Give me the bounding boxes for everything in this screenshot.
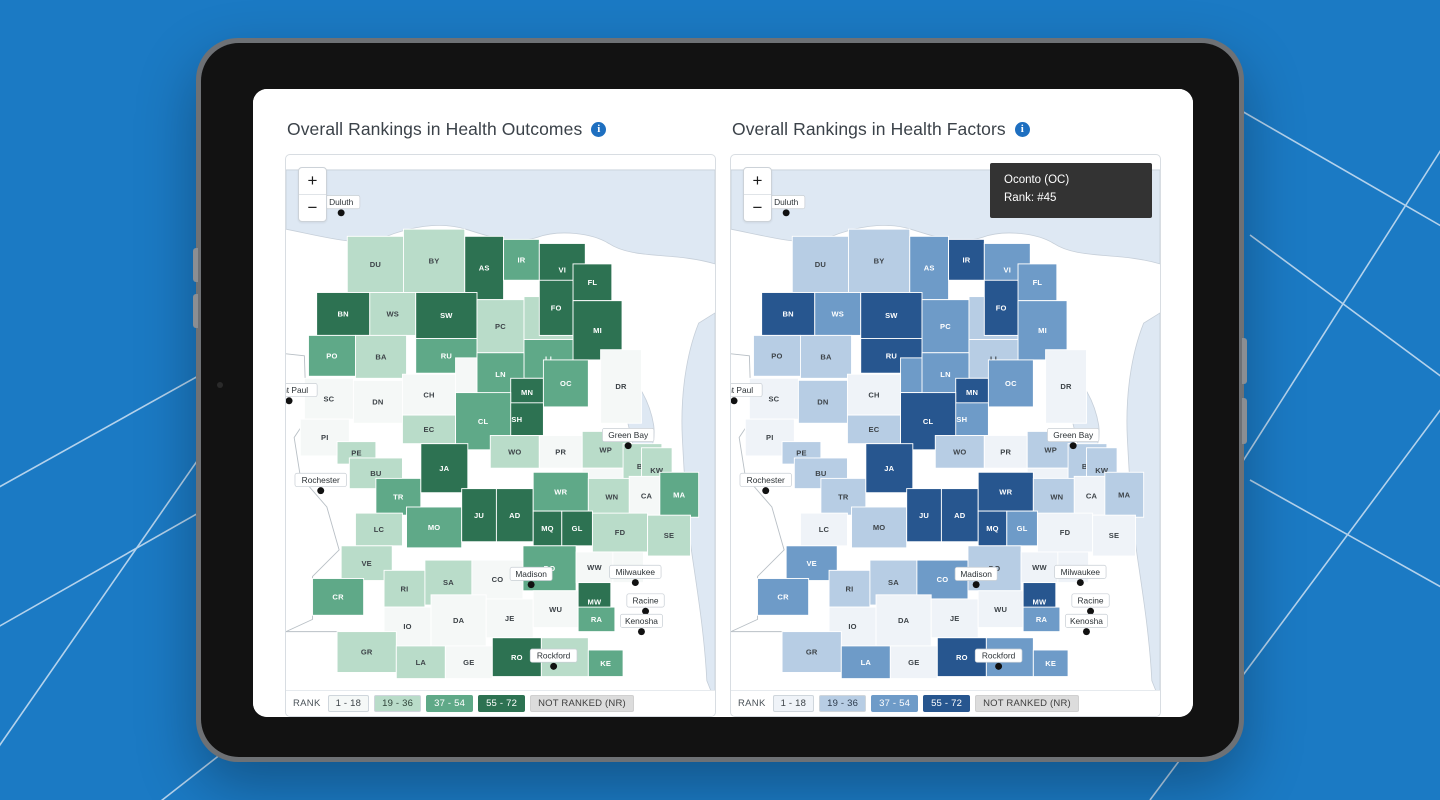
county-label-WP: WP	[1044, 445, 1057, 454]
legend-bin-3[interactable]: 37 - 54	[426, 695, 473, 712]
city-dot-icon	[338, 209, 345, 216]
county-label-BA: BA	[375, 353, 387, 362]
county-label-KE: KE	[1045, 659, 1056, 668]
county-label-DN: DN	[372, 397, 383, 406]
city-label-milwaukee: Milwaukee	[616, 567, 656, 577]
county-label-SA: SA	[888, 578, 899, 587]
county-label-JU: JU	[474, 511, 484, 520]
county-label-CR: CR	[332, 593, 344, 602]
zoom-controls-factors[interactable]: + −	[743, 167, 772, 222]
county-label-SW: SW	[440, 311, 453, 320]
county-label-WN: WN	[605, 492, 618, 501]
county-label-CA: CA	[1086, 491, 1098, 500]
map-tooltip: Oconto (OC) Rank: #45	[990, 163, 1152, 218]
legend-bin-4[interactable]: 55 - 72	[478, 695, 525, 712]
county-label-IR: IR	[962, 255, 970, 264]
zoom-controls-outcomes[interactable]: + −	[298, 167, 327, 222]
county-label-LA: LA	[416, 658, 427, 667]
legend-not-ranked[interactable]: NOT RANKED (NR)	[975, 695, 1079, 712]
county-label-RI: RI	[846, 584, 854, 593]
city-label-duluth: Duluth	[329, 197, 354, 207]
legend-bin-1[interactable]: 1 - 18	[773, 695, 815, 712]
county-label-GL: GL	[572, 524, 583, 533]
county-label-DR: DR	[1060, 382, 1072, 391]
county-label-AD: AD	[509, 511, 521, 520]
county-label-DA: DA	[898, 616, 910, 625]
city-label-saint-paul: Saint Paul	[286, 385, 308, 395]
city-label-milwaukee: Milwaukee	[1061, 567, 1101, 577]
county-label-WP: WP	[599, 445, 612, 454]
county-label-VI: VI	[559, 266, 567, 275]
device-bezel: Overall Rankings in Health Outcomes i + …	[201, 43, 1239, 757]
county-label-VE: VE	[806, 559, 816, 568]
county-label-AD: AD	[954, 511, 966, 520]
county-label-PO: PO	[771, 351, 782, 360]
county-label-WU: WU	[994, 605, 1007, 614]
county-label-SH: SH	[956, 415, 967, 424]
county-label-MO: MO	[873, 523, 886, 532]
city-label-rockford: Rockford	[982, 651, 1016, 661]
county-label-MA: MA	[1118, 490, 1130, 499]
legend-bin-1[interactable]: 1 - 18	[328, 695, 370, 712]
panel-title-factors: Overall Rankings in Health Factors i	[732, 119, 1161, 140]
city-dot-icon	[638, 628, 645, 635]
county-label-PC: PC	[495, 322, 506, 331]
city-dot-icon	[632, 579, 639, 586]
city-dot-icon	[1087, 608, 1094, 615]
city-dot-icon	[528, 581, 535, 588]
legend-bin-2[interactable]: 19 - 36	[374, 695, 421, 712]
wisconsin-choropleth-factors[interactable]: DUBYASIRVIBNWSSWPCONFLFOMIPOBARUTALILNMN…	[731, 155, 1160, 716]
county-label-RU: RU	[886, 351, 897, 360]
county-label-JA: JA	[884, 464, 894, 473]
county-label-KE: KE	[600, 659, 611, 668]
county-label-SW: SW	[885, 311, 898, 320]
county-label-PC: PC	[940, 322, 951, 331]
county-label-GR: GR	[806, 648, 818, 657]
county-label-IR: IR	[517, 255, 525, 264]
zoom-in-button[interactable]: +	[299, 168, 326, 194]
county-label-CR: CR	[777, 593, 789, 602]
county-label-TR: TR	[393, 492, 404, 501]
county-label-GE: GE	[463, 658, 474, 667]
city-label-rockford: Rockford	[537, 651, 571, 661]
county-label-WU: WU	[549, 605, 562, 614]
city-label-green-bay: Green Bay	[1053, 430, 1094, 440]
county-label-DR: DR	[615, 382, 627, 391]
county-label-BU: BU	[815, 469, 826, 478]
county-label-VI: VI	[1004, 266, 1012, 275]
county-label-WO: WO	[953, 447, 966, 456]
county-label-RA: RA	[591, 615, 603, 624]
county-label-MW: MW	[1033, 598, 1047, 607]
legend-not-ranked[interactable]: NOT RANKED (NR)	[530, 695, 634, 712]
city-label-duluth: Duluth	[774, 197, 799, 207]
county-label-EC: EC	[424, 425, 435, 434]
county-label-PO: PO	[326, 351, 337, 360]
county-label-RA: RA	[1036, 615, 1048, 624]
county-label-WW: WW	[1032, 563, 1047, 572]
county-label-LN: LN	[495, 370, 505, 379]
county-label-PR: PR	[1000, 447, 1011, 456]
county-label-RO: RO	[511, 653, 523, 662]
county-label-MQ: MQ	[986, 524, 999, 533]
county-label-MN: MN	[966, 388, 978, 397]
county-label-LC: LC	[374, 525, 385, 534]
map-card-factors[interactable]: + − Oconto (OC) Rank: #45 DUBYASIRVIBNWS…	[730, 154, 1161, 717]
county-label-JE: JE	[505, 614, 515, 623]
county-label-CL: CL	[923, 417, 934, 426]
county-label-MI: MI	[1038, 326, 1047, 335]
county-label-MQ: MQ	[541, 524, 554, 533]
county-label-RO: RO	[956, 653, 968, 662]
county-label-TR: TR	[838, 492, 849, 501]
power-button[interactable]	[1242, 338, 1247, 384]
county-label-JA: JA	[439, 464, 449, 473]
county-label-DA: DA	[453, 616, 465, 625]
county-label-IO: IO	[848, 622, 856, 631]
county-label-AS: AS	[479, 264, 490, 273]
city-label-kenosha: Kenosha	[625, 616, 658, 626]
county-label-FL: FL	[1033, 278, 1043, 287]
county-label-MA: MA	[673, 490, 685, 499]
legend-bin-4[interactable]: 55 - 72	[923, 695, 970, 712]
county-label-FD: FD	[1060, 528, 1071, 537]
city-label-rochester: Rochester	[747, 475, 785, 485]
city-label-saint-paul: Saint Paul	[731, 385, 753, 395]
legend-outcomes: RANK 1 - 18 19 - 36 37 - 54 55 - 72 NOT …	[286, 690, 715, 716]
county-label-GR: GR	[361, 648, 373, 657]
volume-down-button[interactable]	[193, 294, 198, 328]
city-dot-icon	[783, 209, 790, 216]
county-label-LC: LC	[819, 525, 830, 534]
county-label-CH: CH	[868, 390, 879, 399]
county-label-OC: OC	[1005, 379, 1017, 388]
county-label-FO: FO	[996, 303, 1007, 312]
county-label-PR: PR	[555, 447, 566, 456]
info-icon[interactable]: i	[1015, 122, 1030, 137]
county-label-WR: WR	[999, 487, 1012, 496]
panel-health-factors: Overall Rankings in Health Factors i + −…	[730, 119, 1161, 717]
city-dot-icon	[317, 487, 324, 494]
city-label-racine: Racine	[633, 596, 659, 606]
city-dot-icon	[1070, 442, 1077, 449]
city-dot-icon	[995, 663, 1002, 670]
city-dot-icon	[1077, 579, 1084, 586]
county-label-IO: IO	[403, 622, 411, 631]
legend-bin-3[interactable]: 37 - 54	[871, 695, 918, 712]
county-label-SC: SC	[768, 394, 779, 403]
county-label-BN: BN	[338, 310, 349, 319]
county-label-WS: WS	[386, 310, 399, 319]
legend-title: RANK	[738, 698, 766, 709]
county-label-JE: JE	[950, 614, 960, 623]
county-label-WR: WR	[554, 487, 567, 496]
county-label-EC: EC	[869, 425, 880, 434]
county-label-RU: RU	[441, 351, 452, 360]
info-icon[interactable]: i	[591, 122, 606, 137]
county-label-FL: FL	[588, 278, 598, 287]
city-dot-icon	[762, 487, 769, 494]
county-label-MO: MO	[428, 523, 441, 532]
wisconsin-choropleth-outcomes[interactable]: DUBYASIRVIBNWSSWPCONFLFOMIPOBARUTALILNMN…	[286, 155, 715, 716]
county-label-AS: AS	[924, 264, 935, 273]
city-dot-icon	[550, 663, 557, 670]
county-label-PE: PE	[796, 449, 806, 458]
county-label-WO: WO	[508, 447, 521, 456]
city-dot-icon	[625, 442, 632, 449]
city-dot-icon	[973, 581, 980, 588]
legend-factors: RANK 1 - 18 19 - 36 37 - 54 55 - 72 NOT …	[731, 690, 1160, 716]
city-label-green-bay: Green Bay	[608, 430, 649, 440]
county-label-MN: MN	[521, 388, 533, 397]
county-label-CA: CA	[641, 491, 653, 500]
county-label-DU: DU	[370, 260, 381, 269]
zoom-in-button[interactable]: +	[744, 168, 771, 194]
county-label-SH: SH	[511, 415, 522, 424]
panel-title-text: Overall Rankings in Health Factors	[732, 119, 1006, 140]
county-label-RI: RI	[401, 584, 409, 593]
device-screen: Overall Rankings in Health Outcomes i + …	[253, 89, 1193, 717]
side-button[interactable]	[1242, 398, 1247, 444]
city-dot-icon	[642, 608, 649, 615]
panel-title-text: Overall Rankings in Health Outcomes	[287, 119, 582, 140]
county-label-DU: DU	[815, 260, 826, 269]
city-label-rochester: Rochester	[302, 475, 340, 485]
county-label-PI: PI	[321, 433, 329, 442]
city-label-racine: Racine	[1078, 596, 1104, 606]
county-label-CO: CO	[937, 575, 949, 584]
panel-health-outcomes: Overall Rankings in Health Outcomes i + …	[285, 119, 716, 717]
zoom-out-button[interactable]: −	[744, 195, 771, 221]
panel-title-outcomes: Overall Rankings in Health Outcomes i	[287, 119, 716, 140]
city-label-madison: Madison	[515, 569, 547, 579]
county-label-SE: SE	[1109, 531, 1119, 540]
tooltip-county: Oconto (OC)	[1004, 172, 1138, 190]
county-label-BY: BY	[874, 256, 885, 265]
county-label-BU: BU	[370, 469, 381, 478]
county-label-VE: VE	[361, 559, 371, 568]
tablet-device: Overall Rankings in Health Outcomes i + …	[196, 38, 1244, 762]
dashboard: Overall Rankings in Health Outcomes i + …	[253, 89, 1193, 717]
county-label-WW: WW	[587, 563, 602, 572]
county-label-SE: SE	[664, 531, 674, 540]
front-camera-icon	[217, 382, 223, 388]
county-label-WS: WS	[831, 310, 844, 319]
county-label-FO: FO	[551, 303, 562, 312]
volume-up-button[interactable]	[193, 248, 198, 282]
legend-bin-2[interactable]: 19 - 36	[819, 695, 866, 712]
county-label-SC: SC	[323, 394, 334, 403]
county-label-LA: LA	[861, 658, 872, 667]
county-label-GL: GL	[1017, 524, 1028, 533]
city-label-madison: Madison	[960, 569, 992, 579]
county-label-CH: CH	[423, 390, 434, 399]
map-card-outcomes[interactable]: + − DUBYASIRVIBNWSSWPCONFLFOMIPOBARUTALI…	[285, 154, 716, 717]
county-label-BN: BN	[783, 310, 794, 319]
county-label-BA: BA	[820, 353, 832, 362]
county-label-DN: DN	[817, 397, 828, 406]
county-label-PE: PE	[351, 449, 361, 458]
county-label-CO: CO	[492, 575, 504, 584]
county-label-BY: BY	[429, 256, 440, 265]
county-label-WN: WN	[1050, 492, 1063, 501]
city-dot-icon	[1083, 628, 1090, 635]
county-label-FD: FD	[615, 528, 626, 537]
county-label-CL: CL	[478, 417, 489, 426]
county-label-LN: LN	[940, 370, 950, 379]
county-label-JU: JU	[919, 511, 929, 520]
county-label-OC: OC	[560, 379, 572, 388]
county-label-MW: MW	[588, 598, 602, 607]
county-label-MI: MI	[593, 326, 602, 335]
city-label-kenosha: Kenosha	[1070, 616, 1103, 626]
zoom-out-button[interactable]: −	[299, 195, 326, 221]
tooltip-rank: Rank: #45	[1004, 190, 1138, 208]
county-label-PI: PI	[766, 433, 774, 442]
county-label-SA: SA	[443, 578, 454, 587]
legend-title: RANK	[293, 698, 321, 709]
county-label-GE: GE	[908, 658, 919, 667]
